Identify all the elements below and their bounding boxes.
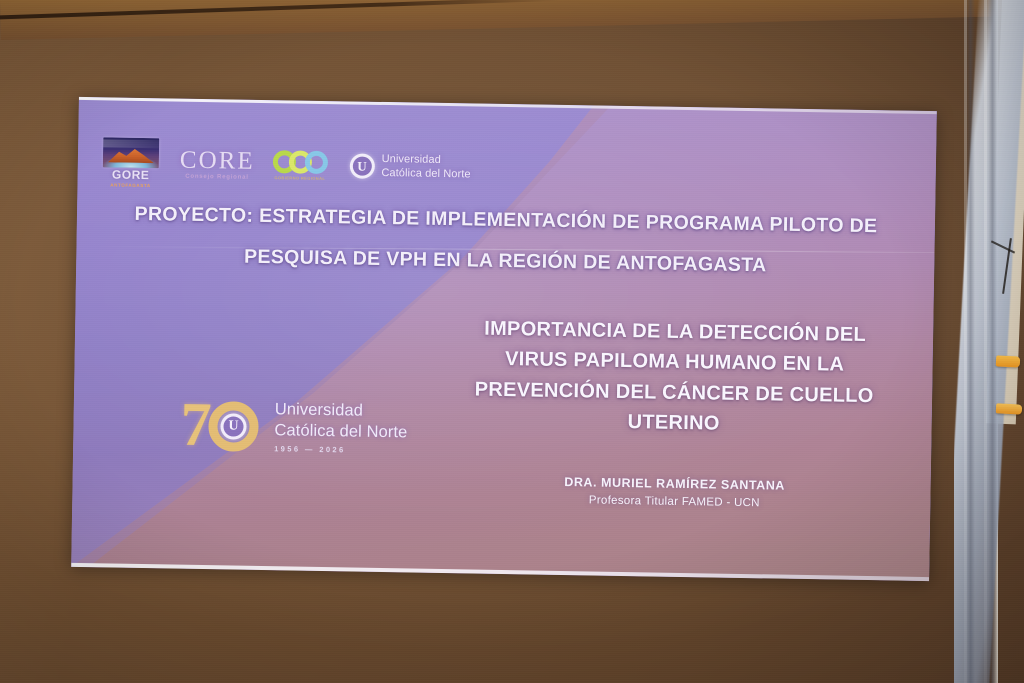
gore-landscape-icon	[103, 137, 159, 168]
curtain-fold-a	[964, 0, 967, 683]
gore-sky	[103, 139, 159, 148]
gore-sublabel: ANTOFAGASTA	[110, 182, 151, 188]
presenter-block: DRA. MURIEL RAMÍREZ SANTANA Profesora Ti…	[464, 473, 884, 511]
anniversary-line2: Católica del Norte	[274, 420, 407, 442]
presentation-slide: GORE ANTOFAGASTA CORE Consejo Regional	[71, 97, 937, 581]
presenter-name: DRA. MURIEL RAMÍREZ SANTANA	[465, 473, 885, 494]
core-label: CORE	[180, 147, 255, 173]
ucn-wordmark: Universidad Católica del Norte	[381, 153, 471, 181]
rings-row	[272, 150, 327, 174]
main-heading: IMPORTANCIA DE LA DETECCIÓN DEL VIRUS PA…	[443, 313, 905, 442]
anniversary-logo: 7 U Universidad Católica del Norte 1956 …	[178, 394, 408, 460]
gore-mountain-icon	[108, 147, 154, 163]
orange-clip-upper	[996, 355, 1021, 367]
curtain-shadow-a	[966, 0, 975, 683]
ucn-logo: U Universidad Católica del Norte	[349, 153, 471, 182]
curtain-area	[954, 0, 1024, 683]
logo-bar: GORE ANTOFAGASTA CORE Consejo Regional	[101, 137, 471, 193]
core-sublabel: Consejo Regional	[185, 173, 249, 180]
gore-label: GORE	[112, 168, 150, 181]
core-logo: CORE Consejo Regional	[180, 147, 255, 180]
ucn-wordmark-line2: Católica del Norte	[381, 167, 470, 182]
ucn-wordmark-line1: Universidad	[382, 153, 471, 168]
anniversary-mark-icon: 7 U	[178, 394, 263, 457]
anniversary-wordmark: Universidad Católica del Norte 1956 — 20…	[274, 400, 408, 455]
rings-sublabel: GOBIERNO REGIONAL	[274, 175, 325, 181]
project-title: PROYECTO: ESTRATEGIA DE IMPLEMENTACIÓN D…	[76, 193, 935, 289]
presenter-role: Profesora Titular FAMED - UCN	[464, 492, 884, 511]
photo-scene: GORE ANTOFAGASTA CORE Consejo Regional	[0, 0, 1024, 683]
curtain-fold-b	[984, 0, 987, 683]
anniversary-badge-letter: U	[223, 416, 243, 436]
ring-blue-icon	[304, 150, 327, 173]
projected-slide-container: GORE ANTOFAGASTA CORE Consejo Regional	[71, 97, 937, 581]
ucn-badge-icon: U	[349, 154, 374, 179]
anniversary-line1: Universidad	[275, 400, 408, 422]
anniversary-seven: 7	[180, 398, 212, 453]
curtain-shadow-b	[988, 0, 997, 683]
gore-logo: GORE ANTOFAGASTA	[101, 137, 160, 188]
anniversary-years: 1956 — 2026	[274, 444, 407, 455]
ucn-badge-letter: U	[352, 157, 371, 176]
slide-content: GORE ANTOFAGASTA CORE Consejo Regional	[71, 97, 937, 581]
orange-clip-lower	[996, 403, 1022, 414]
rings-logo: GOBIERNO REGIONAL	[272, 150, 327, 181]
